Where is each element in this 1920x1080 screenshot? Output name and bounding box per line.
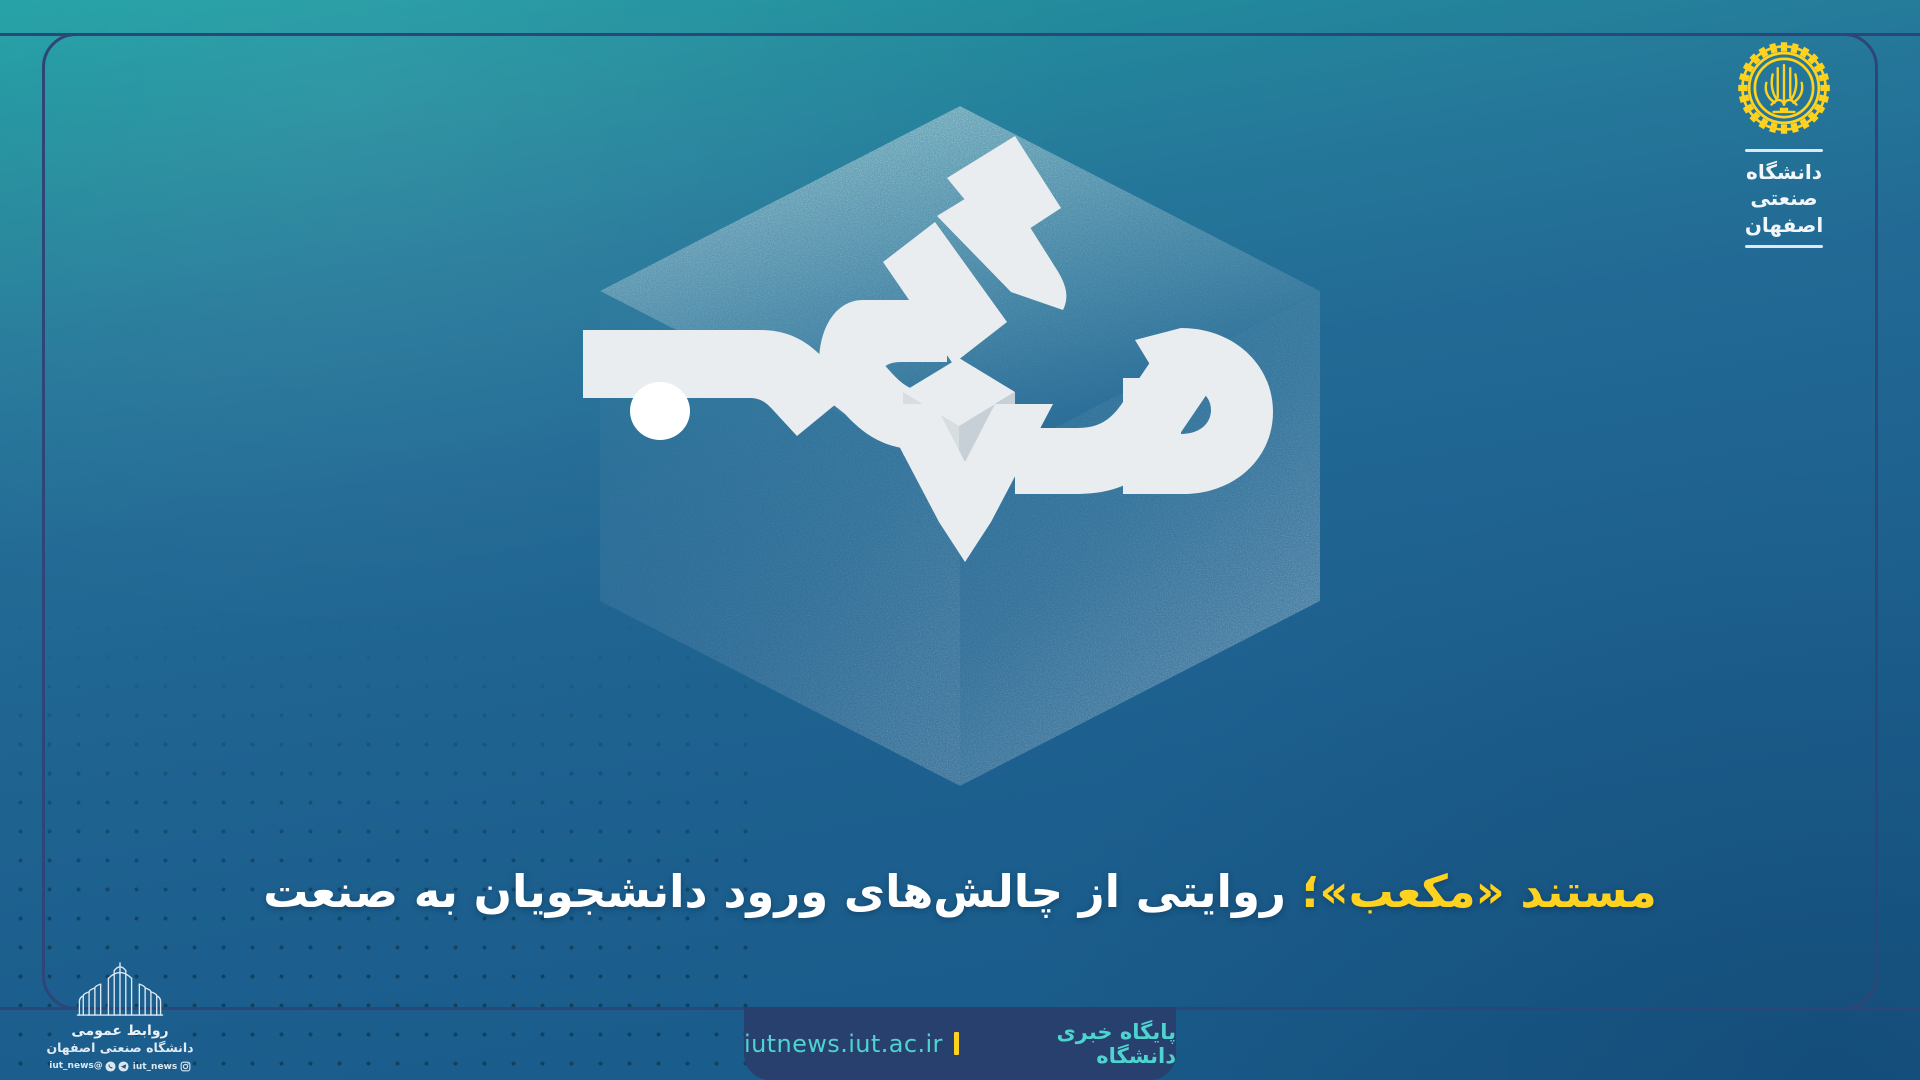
footer-website-pill[interactable]: پایگاه خبری دانشگاه iutnews.iut.ac.ir <box>744 1007 1176 1080</box>
crest-line-1: دانشگاه <box>1720 159 1848 185</box>
iut-crest: دانشگاه صنعتی اصفهان <box>1720 36 1848 248</box>
telegram-icon[interactable] <box>118 1061 129 1072</box>
headline: مستند «مکعب»؛ روایتی از چالش‌های ورود دا… <box>108 862 1812 923</box>
crest-line-2: صنعتی <box>1720 185 1848 211</box>
poster-canvas: دانشگاه صنعتی اصفهان مستند «مکعب»؛ روایت… <box>0 0 1920 1080</box>
instagram-icon <box>180 1061 191 1072</box>
pr-line-1: روابط عمومی <box>44 1022 196 1040</box>
crest-line-3: اصفهان <box>1720 212 1848 238</box>
public-relations-badge: روابط عمومی دانشگاه صنعتی اصفهان iut_new… <box>44 959 196 1072</box>
social-instagram[interactable]: iut_news <box>133 1061 191 1072</box>
whatsapp-handle: @iut_news <box>49 1061 102 1072</box>
headline-rest: روایتی از چالش‌های ورود دانشجویان به صنع… <box>263 865 1301 918</box>
footer-separator <box>954 1032 959 1055</box>
whatsapp-icon[interactable] <box>105 1061 116 1072</box>
footer-url[interactable]: iutnews.iut.ac.ir <box>744 1030 943 1058</box>
crest-rule-bottom <box>1745 245 1823 248</box>
iut-gear-crest-icon <box>1732 36 1836 140</box>
crest-rule-top <box>1745 149 1823 152</box>
instagram-handle: iut_news <box>133 1062 177 1072</box>
frame-top-rule <box>0 33 1920 36</box>
pr-line-2: دانشگاه صنعتی اصفهان <box>44 1040 196 1057</box>
headline-accent: مستند «مکعب»؛ <box>1302 865 1657 918</box>
footer-label: پایگاه خبری دانشگاه <box>970 1020 1176 1068</box>
cube-logo-icon <box>545 66 1375 826</box>
pr-social-row: iut_news @iut_news <box>44 1061 196 1072</box>
